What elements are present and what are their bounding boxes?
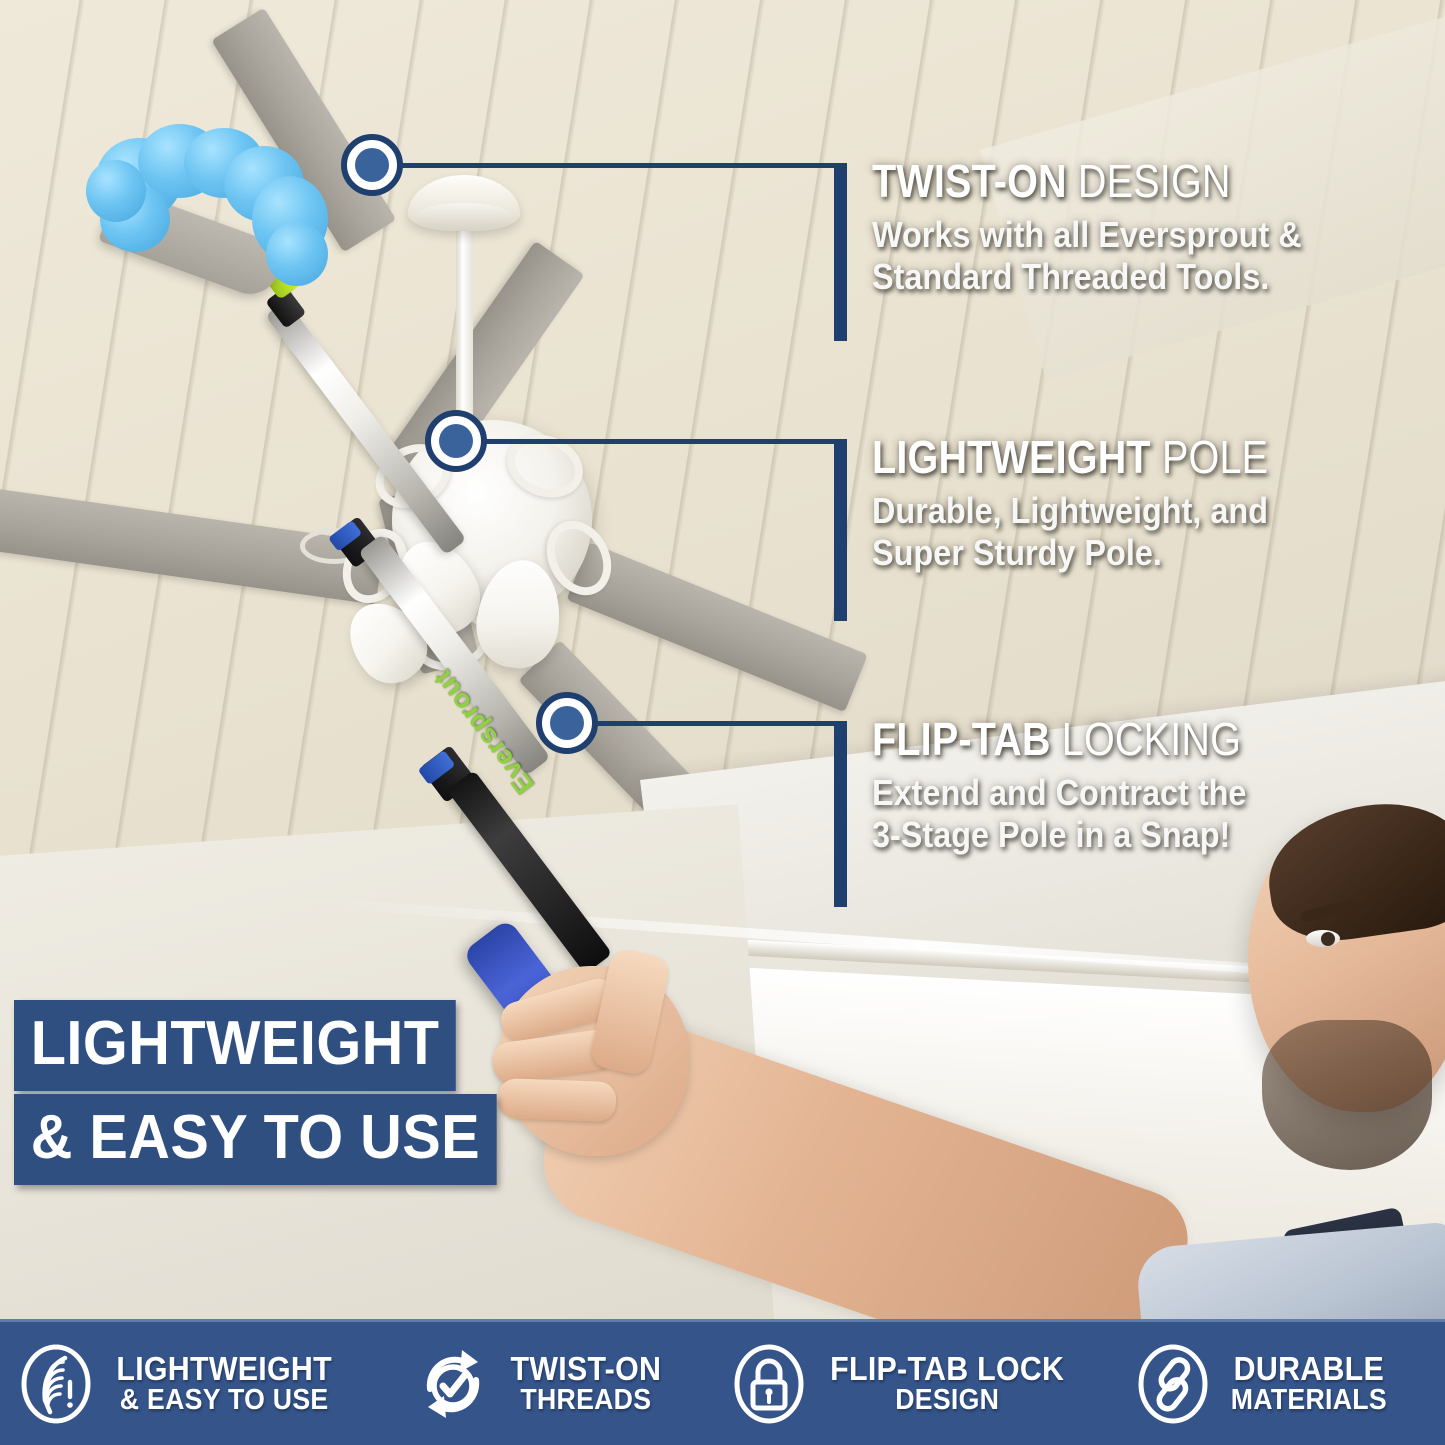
finger: [497, 1078, 616, 1122]
marker-dot: [439, 424, 473, 458]
fan-canopy-ring: [420, 203, 508, 225]
callout-marker-lightweight-pole[interactable]: [425, 410, 487, 472]
feature-label-line1: LIGHTWEIGHT: [117, 1352, 333, 1386]
callout-text-flip-tab-locking: FLIP-TAB LOCKING Extend and Contract the…: [872, 716, 1301, 857]
feature-durable-materials: DURABLE MATERIALS: [1084, 1342, 1445, 1426]
feature-twist-on: TWIST-ON THREADS: [361, 1342, 722, 1426]
callout-body-line1: Durable, Lightweight, and: [872, 490, 1287, 532]
callout-body-line2: 3-Stage Pole in a Snap!: [872, 814, 1258, 856]
marker-dot: [355, 148, 389, 182]
callout-title-bold: TWIST-ON: [872, 155, 1067, 207]
callout-body-line1: Works with all Eversprout &: [872, 214, 1302, 256]
feature-bar: LIGHTWEIGHT & EASY TO USE TWIST-ON THREA…: [0, 1319, 1445, 1445]
callout-body-line1: Extend and Contract the: [872, 772, 1258, 814]
banner-line-1: LIGHTWEIGHT: [14, 1000, 456, 1091]
callout-marker-flip-tab-locking[interactable]: [536, 692, 598, 754]
feature-label: TWIST-ON THREADS: [511, 1352, 662, 1415]
callout-title-bold: FLIP-TAB: [872, 713, 1051, 765]
callout-leader-vertical: [834, 721, 847, 907]
callout-leader-horizontal: [595, 721, 846, 726]
feature-label: LIGHTWEIGHT & EASY TO USE: [117, 1352, 333, 1415]
marker-dot: [550, 706, 584, 740]
callout-leader-horizontal: [484, 439, 846, 444]
feature-label-line2: MATERIALS: [1230, 1386, 1386, 1416]
padlock-icon: [732, 1342, 806, 1426]
feature-label: DURABLE MATERIALS: [1230, 1352, 1386, 1415]
feature-label-line1: FLIP-TAB LOCK: [830, 1352, 1064, 1386]
duster-microfiber: [266, 222, 328, 286]
callout-text-twist-on: TWIST-ON DESIGN Works with all Eversprou…: [872, 158, 1349, 299]
callout-title-light: POLE: [1162, 431, 1268, 483]
callout-title: LIGHTWEIGHT POLE: [872, 434, 1268, 480]
duster-microfiber: [86, 160, 146, 222]
callout-marker-twist-on[interactable]: [341, 134, 403, 196]
feature-label-line1: DURABLE: [1230, 1352, 1386, 1386]
feature-flip-tab-lock: FLIP-TAB LOCK DESIGN: [723, 1342, 1084, 1426]
callout-body: Works with all Eversprout & Standard Thr…: [872, 214, 1302, 299]
feature-label-line2: & EASY TO USE: [117, 1386, 333, 1416]
feature-label-line2: DESIGN: [830, 1386, 1064, 1416]
eye: [1306, 930, 1340, 947]
callout-body: Durable, Lightweight, and Super Sturdy P…: [872, 490, 1287, 575]
feature-label-line1: TWIST-ON: [511, 1352, 662, 1386]
chain-link-icon: [1136, 1342, 1210, 1426]
callout-body-line2: Super Sturdy Pole.: [872, 532, 1287, 574]
callout-body: Extend and Contract the 3-Stage Pole in …: [872, 772, 1258, 857]
callout-text-lightweight-pole: LIGHTWEIGHT POLE Durable, Lightweight, a…: [872, 434, 1333, 575]
callout-title-light: LOCKING: [1062, 713, 1241, 765]
twist-check-icon: [416, 1342, 490, 1426]
callout-leader-horizontal: [400, 163, 846, 168]
callout-title: TWIST-ON DESIGN: [872, 158, 1283, 204]
banner-line-2: & EASY TO USE: [14, 1094, 497, 1185]
callout-leader-vertical: [834, 439, 847, 621]
callout-leader-vertical: [834, 163, 847, 341]
product-feature-image: Eversprout: [0, 0, 1445, 1445]
feather-icon: [19, 1342, 93, 1426]
callout-title-light: DESIGN: [1078, 155, 1231, 207]
person-beard: [1262, 1020, 1432, 1170]
callout-title-bold: LIGHTWEIGHT: [872, 431, 1151, 483]
feature-lightweight: LIGHTWEIGHT & EASY TO USE: [0, 1342, 361, 1426]
feature-label: FLIP-TAB LOCK DESIGN: [830, 1352, 1064, 1415]
callout-body-line2: Standard Threaded Tools.: [872, 256, 1302, 298]
callout-title: FLIP-TAB LOCKING: [872, 716, 1241, 762]
feature-label-line2: THREADS: [511, 1386, 662, 1416]
pupil: [1321, 932, 1335, 946]
